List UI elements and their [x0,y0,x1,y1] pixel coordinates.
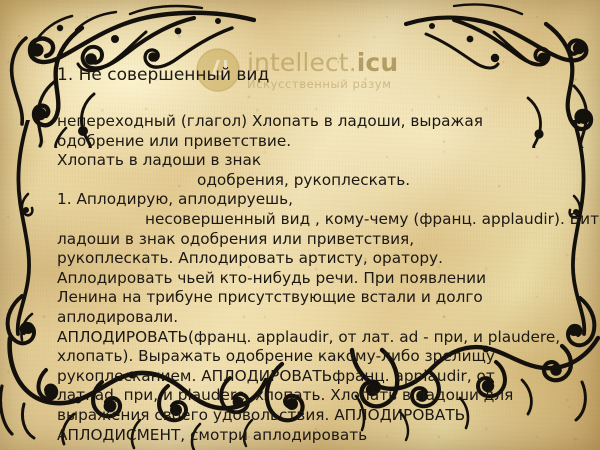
headword: 1. Не совершенный вид [57,66,269,86]
definition-line: рукоплескать. Аплодировать артисту, орат… [57,249,577,269]
definition-line-text: несовершенный вид , кому-чему (франц. ap… [145,210,600,228]
definition-line: Хлопать в ладоши в знак [57,151,577,171]
definition-body: непереходный (глагол) Хлопать в ладоши, … [57,112,577,445]
definition-line: 1. Аплодирую, аплодируешь, [57,190,577,210]
definition-line: одобрения, рукоплескать. [57,171,577,191]
definition-line: ладоши в знак одобрения или приветствия, [57,230,577,250]
definition-line: Аплодировать чьей кто-нибудь речи. При п… [57,269,577,289]
definition-line: непереходный (глагол) Хлопать в ладоши, … [57,112,577,132]
definition-line: несовершенный вид , кому-чему (франц. ap… [57,210,577,230]
dictionary-slide: intellect.icu Искусственный разум [0,0,600,450]
definition-line: выражения своего удовольствия. АПЛОДИРОВ… [57,406,577,426]
definition-line: АПЛОДИСМЕНТ, смотри аплодировать [57,426,577,446]
definition-line: лат. ad, при, и plaudere, хлопать. Хлопа… [57,386,577,406]
definition-line: АПЛОДИРОВАТЬ(франц. applaudir, от лат. a… [57,328,577,348]
definition-line: Ленина на трибуне присутствующие встали … [57,288,577,308]
definition-line: одобрение или приветствие. [57,132,577,152]
definition-line: аплодировали. [57,308,577,328]
definition-line: хлопать). Выражать одобрение какому-либо… [57,347,577,367]
definition-line-text: одобрения, рукоплескать. [197,171,410,189]
slide-text: 1. Не совершенный вид непереходный (глаг… [0,0,600,450]
definition-line: рукоплесканием. АПЛОДИРОВАТЬфранц. appla… [57,367,577,387]
